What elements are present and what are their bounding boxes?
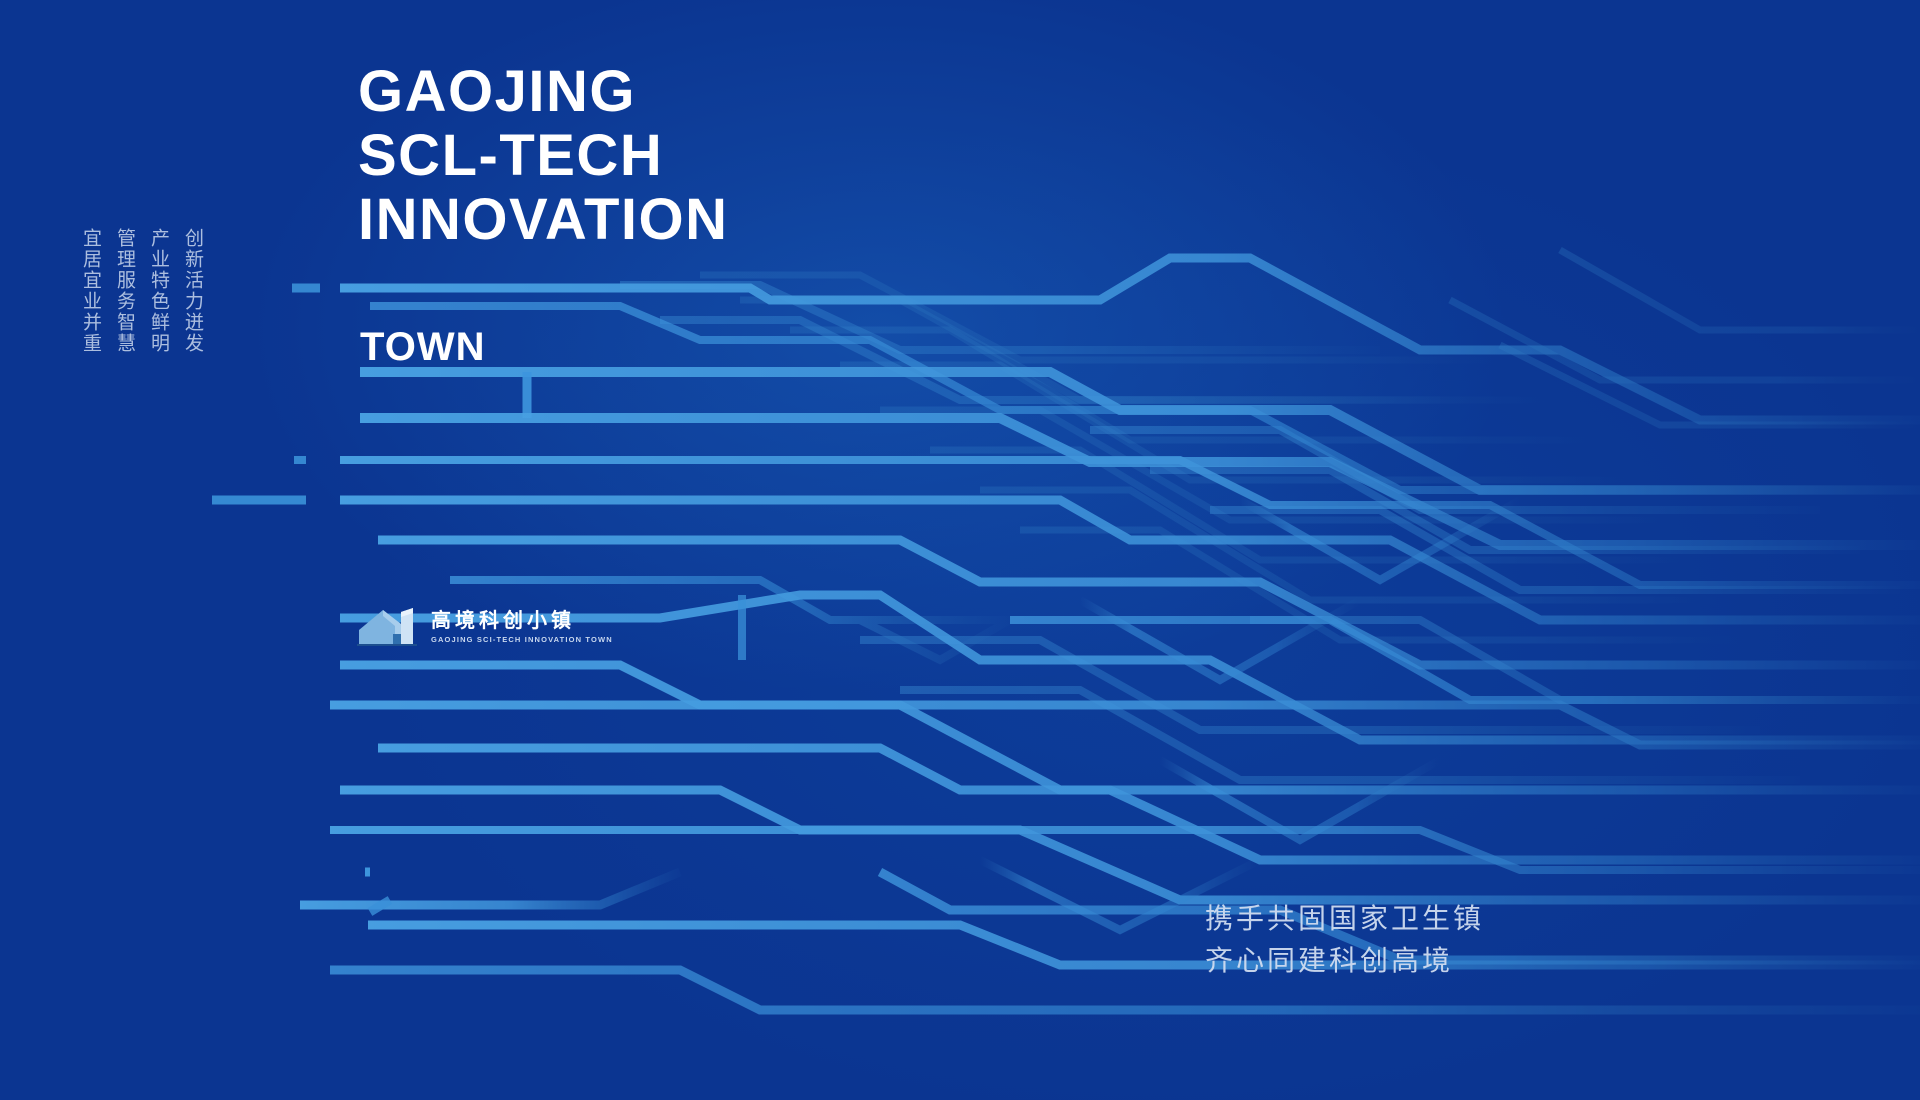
circuit-trace-artwork — [0, 0, 1920, 1100]
logo-lockup: 高境科创小镇 GAOJING SCI-TECH INNOVATION TOWN — [357, 604, 613, 646]
house-building-icon — [357, 604, 421, 646]
logo-text-block: 高境科创小镇 GAOJING SCI-TECH INNOVATION TOWN — [431, 607, 613, 644]
vertical-slogan-column-3: 管理服务智慧 — [112, 228, 137, 354]
headline-line-1: GAOJING — [358, 60, 729, 124]
logo-chinese-name: 高境科创小镇 — [431, 609, 613, 631]
vertical-slogan-column-4: 宜居宜业并重 — [78, 228, 103, 354]
vertical-slogan-column-1: 创新活力迸发 — [180, 228, 205, 354]
headline-line-3: INNOVATION — [358, 188, 729, 252]
vertical-slogan-column-2: 产业特色鲜明 — [146, 228, 171, 354]
vertical-slogan: 创新活力迸发 产业特色鲜明 管理服务智慧 宜居宜业并重 — [78, 228, 205, 354]
headline-line-2: SCL-TECH — [358, 124, 729, 188]
bottom-slogan-line-2: 齐心同建科创高境 — [1205, 940, 1484, 982]
logo-english-name: GAOJING SCI-TECH INNOVATION TOWN — [431, 635, 613, 644]
page-title: GAOJING SCL-TECH INNOVATION — [358, 60, 729, 252]
poster-canvas: GAOJING SCL-TECH INNOVATION TOWN 创新活力迸发 … — [0, 0, 1920, 1100]
bottom-slogan: 携手共固国家卫生镇 齐心同建科创高境 — [1205, 898, 1484, 982]
headline-line-4: TOWN — [360, 325, 485, 370]
bottom-slogan-line-1: 携手共固国家卫生镇 — [1205, 898, 1484, 940]
